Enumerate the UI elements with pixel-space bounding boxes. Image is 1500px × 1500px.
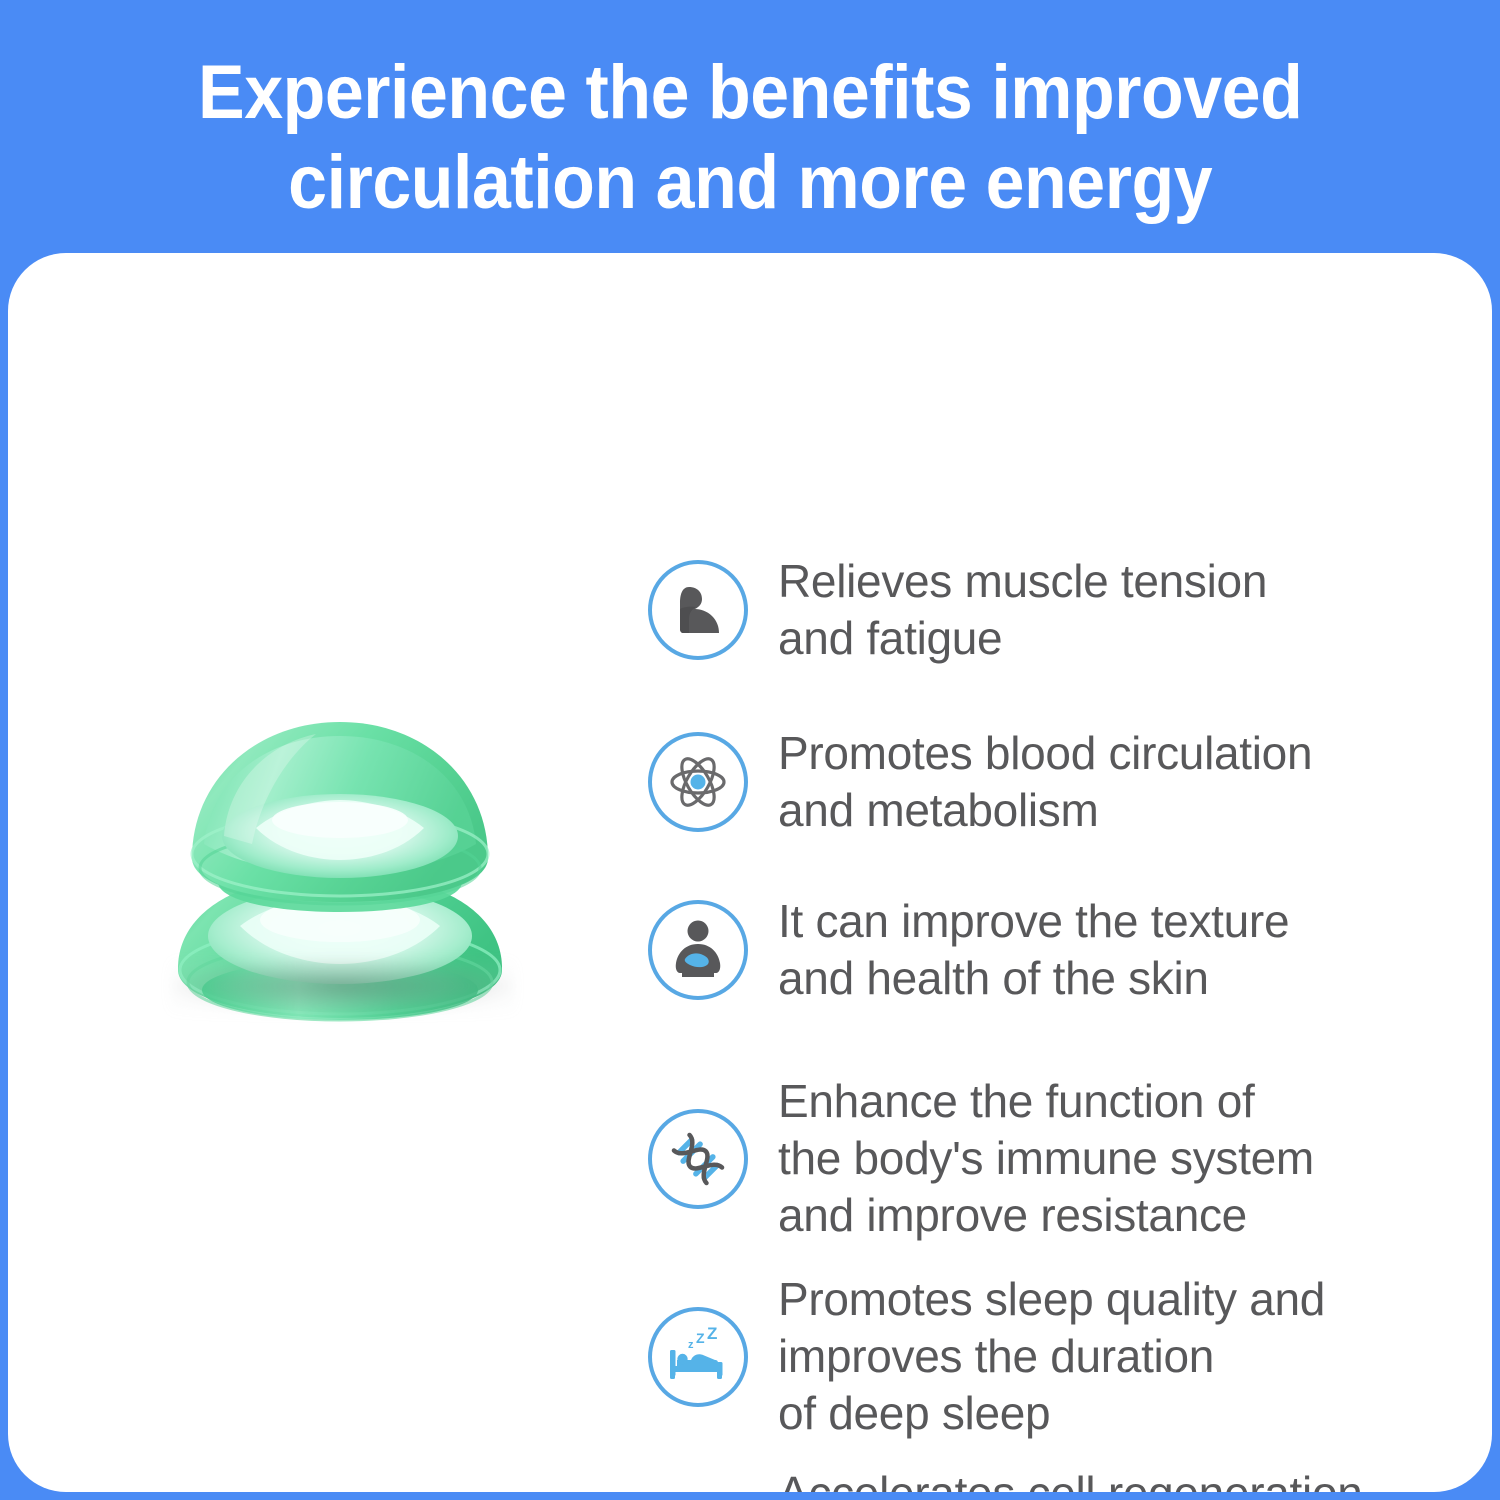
product-image-pane [8, 253, 648, 1492]
person-skin-icon [648, 900, 748, 1000]
benefits-list: Relieves muscle tension and fatigue Prom… [648, 253, 1492, 1492]
content-card: Relieves muscle tension and fatigue Prom… [8, 253, 1492, 1492]
benefit-item-muscle-tension: Relieves muscle tension and fatigue [648, 553, 1267, 667]
benefit-label: Enhance the function of the body's immun… [778, 1073, 1314, 1244]
benefit-label: It can improve the texture and health of… [778, 893, 1289, 1007]
svg-text:Z: Z [707, 1326, 717, 1343]
svg-text:z: z [688, 1339, 694, 1351]
page-title-line-2: circulation and more energy [288, 138, 1212, 228]
flexed-bicep-icon [648, 560, 748, 660]
svg-text:Z: Z [696, 1330, 705, 1346]
card-inner: Relieves muscle tension and fatigue Prom… [8, 253, 1492, 1492]
benefit-item-skin-texture: It can improve the texture and health of… [648, 893, 1289, 1007]
product-drop-shadow [170, 958, 515, 1014]
product-image [140, 668, 540, 1028]
benefit-label: Promotes blood circulation and metabolis… [778, 725, 1312, 839]
benefit-label: Promotes sleep quality and improves the … [778, 1271, 1325, 1442]
benefit-label: Relieves muscle tension and fatigue [778, 553, 1267, 667]
sleeping-bed-icon: z Z Z [648, 1307, 748, 1407]
benefit-item-blood-circulation: Promotes blood circulation and metabolis… [648, 725, 1312, 839]
benefit-item-immune-system: Enhance the function of the body's immun… [648, 1073, 1314, 1244]
benefit-item-sleep-quality: z Z Z Promotes sleep quality and improve… [648, 1271, 1325, 1442]
dna-helix-icon [648, 1109, 748, 1209]
benefit-item-cell-regeneration: Accelerates cell regeneration for a more… [648, 1465, 1363, 1492]
page-title-line-1: Experience the benefits improved [198, 48, 1302, 138]
atom-icon [648, 732, 748, 832]
header-banner: Experience the benefits improved circula… [0, 0, 1500, 253]
benefit-label: Accelerates cell regeneration for a more… [778, 1465, 1363, 1492]
